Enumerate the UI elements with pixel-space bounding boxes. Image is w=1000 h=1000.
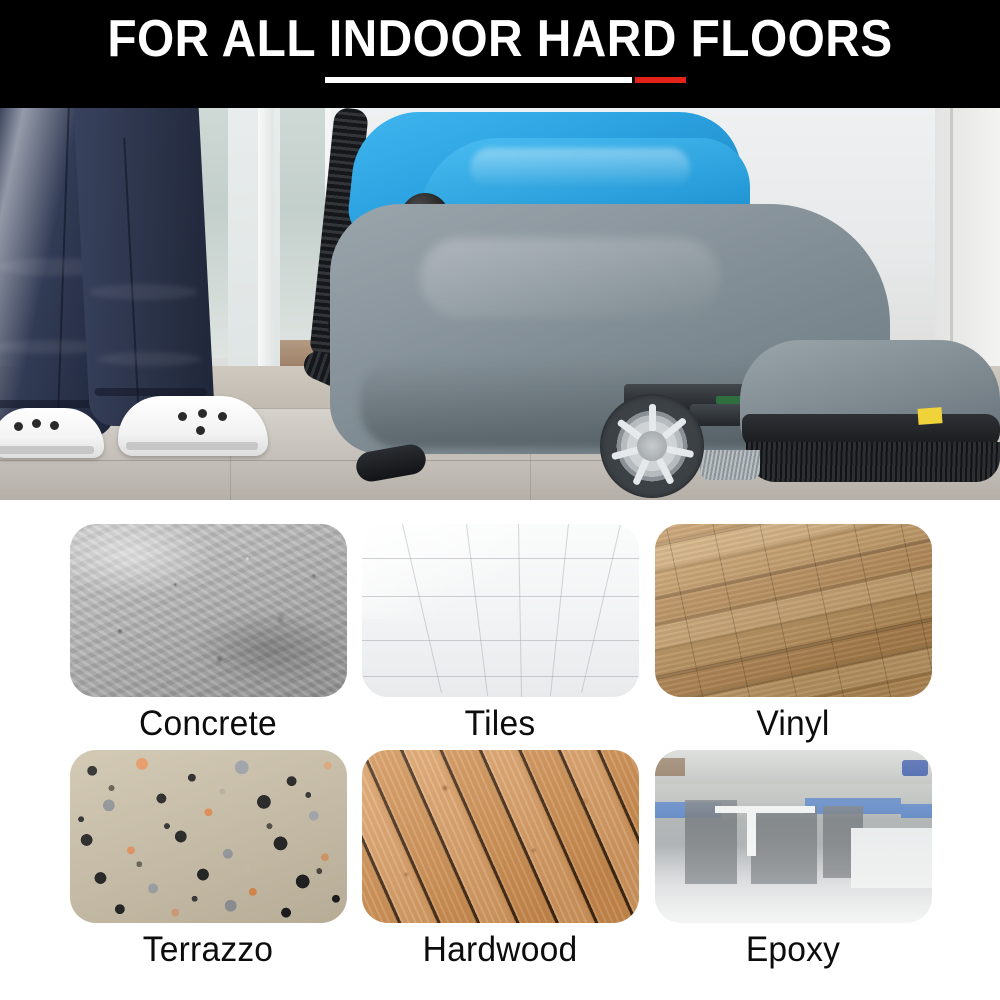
floor-type-card-terrazzo[interactable]: Terrazzo (63, 750, 353, 972)
clog-vent-hole (50, 421, 59, 430)
tiles-swatch-image (362, 524, 639, 697)
floor-type-label: Terrazzo (69, 928, 347, 972)
tile-gloss-highlight (362, 524, 528, 619)
machine-body-highlight (420, 238, 720, 318)
clog-vent-hole (198, 409, 207, 418)
divider-white-segment (325, 77, 632, 83)
worker-leg-right (74, 108, 216, 426)
machine-wheel-hub (637, 431, 667, 461)
terrazzo-swatch-image (70, 750, 347, 923)
trouser-seam (123, 138, 140, 418)
clog-sole-tread (0, 446, 94, 454)
clog-vent-hole (218, 412, 227, 421)
hero-photo-floor-scrubber (0, 108, 1000, 500)
concrete-swatch-image (70, 524, 347, 697)
worker-shoe-right (118, 396, 268, 456)
trouser-wrinkle (96, 352, 201, 366)
tile-grout-line (362, 558, 639, 559)
epoxy-surface-sheen (655, 750, 932, 923)
wheel-spoke (649, 404, 656, 432)
machine-scrub-brush (746, 442, 1000, 482)
floor-type-label: Concrete (69, 702, 347, 746)
banner-divider-rule (325, 77, 686, 83)
tile-grout-line (362, 640, 639, 641)
trouser-hem (94, 388, 206, 396)
floor-type-card-epoxy[interactable]: Epoxy (648, 750, 938, 972)
machine-blue-highlight (470, 148, 690, 188)
banner-title: FOR ALL INDOOR HARD FLOORS (40, 10, 960, 68)
tile-grout-line (581, 524, 621, 693)
clog-vent-hole (196, 426, 205, 435)
floor-type-label: Vinyl (654, 702, 932, 746)
clog-vent-hole (32, 419, 41, 428)
hardwood-swatch-image (362, 750, 639, 923)
floor-type-label: Hardwood (361, 928, 639, 972)
tile-grout-line (362, 676, 639, 677)
product-feature-page: FOR ALL INDOOR HARD FLOORS (0, 0, 1000, 1000)
floor-type-card-tiles[interactable]: Tiles (355, 524, 645, 746)
clog-sole-tread (126, 442, 258, 450)
worker-shoe-left (0, 408, 104, 458)
machine-brush-front-bristles (700, 450, 760, 480)
header-banner: FOR ALL INDOOR HARD FLOORS (0, 0, 1000, 108)
floor-type-card-concrete[interactable]: Concrete (63, 524, 353, 746)
divider-red-accent-segment (635, 77, 686, 83)
vinyl-swatch-image (655, 524, 932, 697)
floor-types-grid: Concrete Tiles Vinyl Terra (0, 500, 1000, 1000)
photo-door-frame (258, 108, 274, 398)
machine-warning-label (917, 407, 942, 425)
floor-type-label: Epoxy (654, 928, 932, 972)
tile-grout-line (362, 596, 639, 597)
floor-type-card-hardwood[interactable]: Hardwood (355, 750, 645, 972)
tile-grout-line (549, 524, 568, 696)
floor-type-card-vinyl[interactable]: Vinyl (648, 524, 938, 746)
clog-vent-hole (178, 412, 187, 421)
trouser-wrinkle (89, 284, 198, 300)
epoxy-swatch-image (655, 750, 932, 923)
clog-vent-hole (14, 422, 23, 431)
floor-type-label: Tiles (361, 702, 639, 746)
